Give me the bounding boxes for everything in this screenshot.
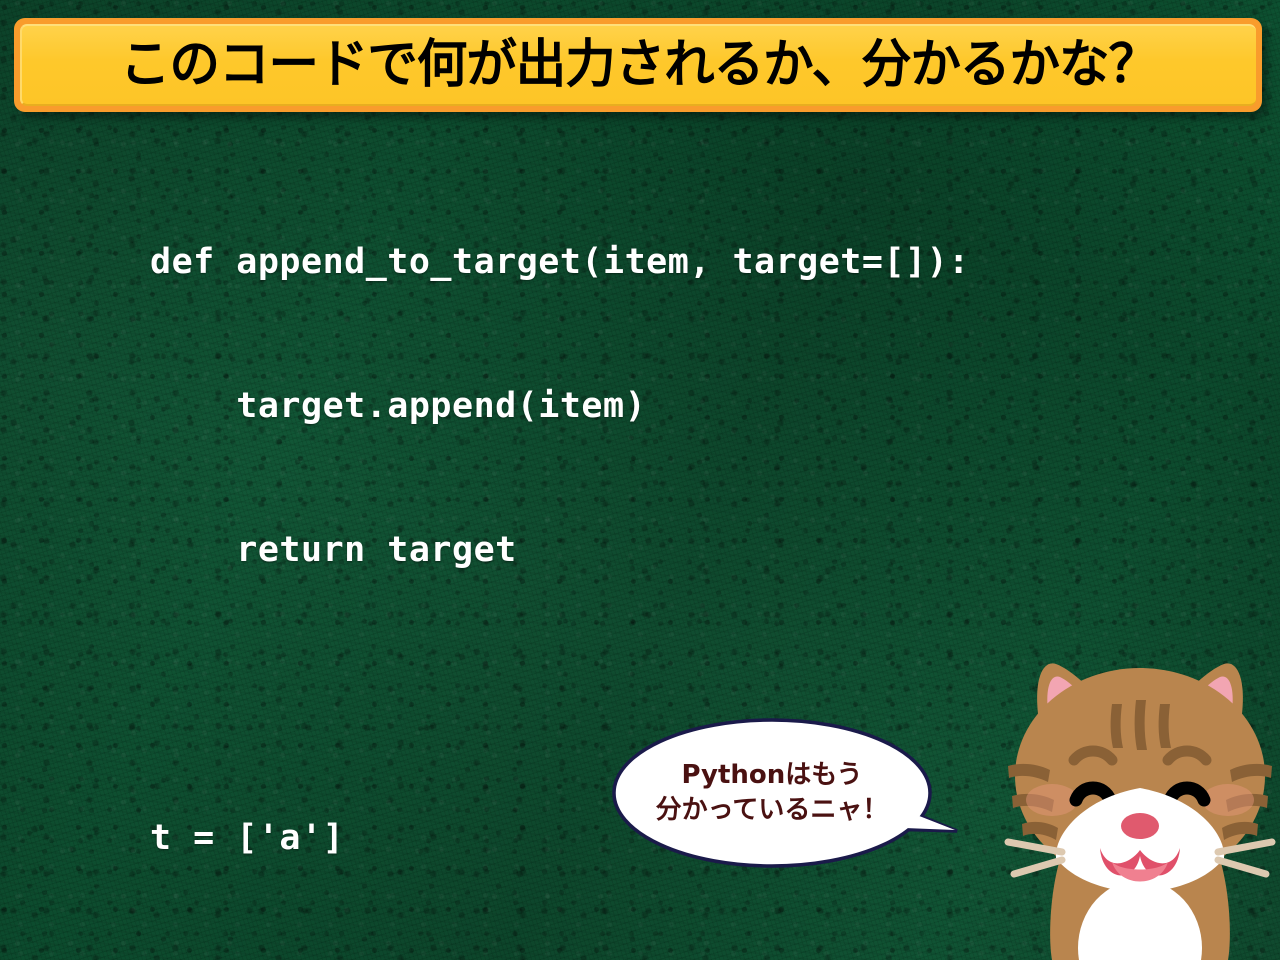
code-line: target.append(item): [150, 382, 970, 430]
code-line: return target: [150, 526, 970, 574]
speech-bubble-line-1: Pythonはもう: [681, 758, 862, 793]
cat-svg: [1000, 648, 1280, 960]
cat-whisker-right-2: [1218, 860, 1266, 874]
cat-illustration: [1000, 648, 1280, 960]
title-banner: このコードで何が出力されるか、分かるかな？: [14, 18, 1262, 112]
speech-bubble: Pythonはもう 分かっているニャ！: [612, 718, 932, 868]
speech-bubble-text: Pythonはもう 分かっているニャ！: [612, 718, 932, 868]
code-line: def append_to_target(item, target=[]):: [150, 238, 970, 286]
page-title: このコードで何が出力されるか、分かるかな？: [120, 39, 1158, 91]
cat-nose: [1121, 813, 1159, 839]
speech-bubble-line-2: 分かっているニャ！: [656, 793, 889, 828]
code-line-blank: [150, 670, 970, 718]
slide-canvas: このコードで何が出力されるか、分かるかな？ def append_to_targ…: [0, 0, 1280, 960]
title-banner-inner: このコードで何が出力されるか、分かるかな？: [20, 24, 1256, 106]
cat-whisker-left-2: [1014, 860, 1062, 874]
